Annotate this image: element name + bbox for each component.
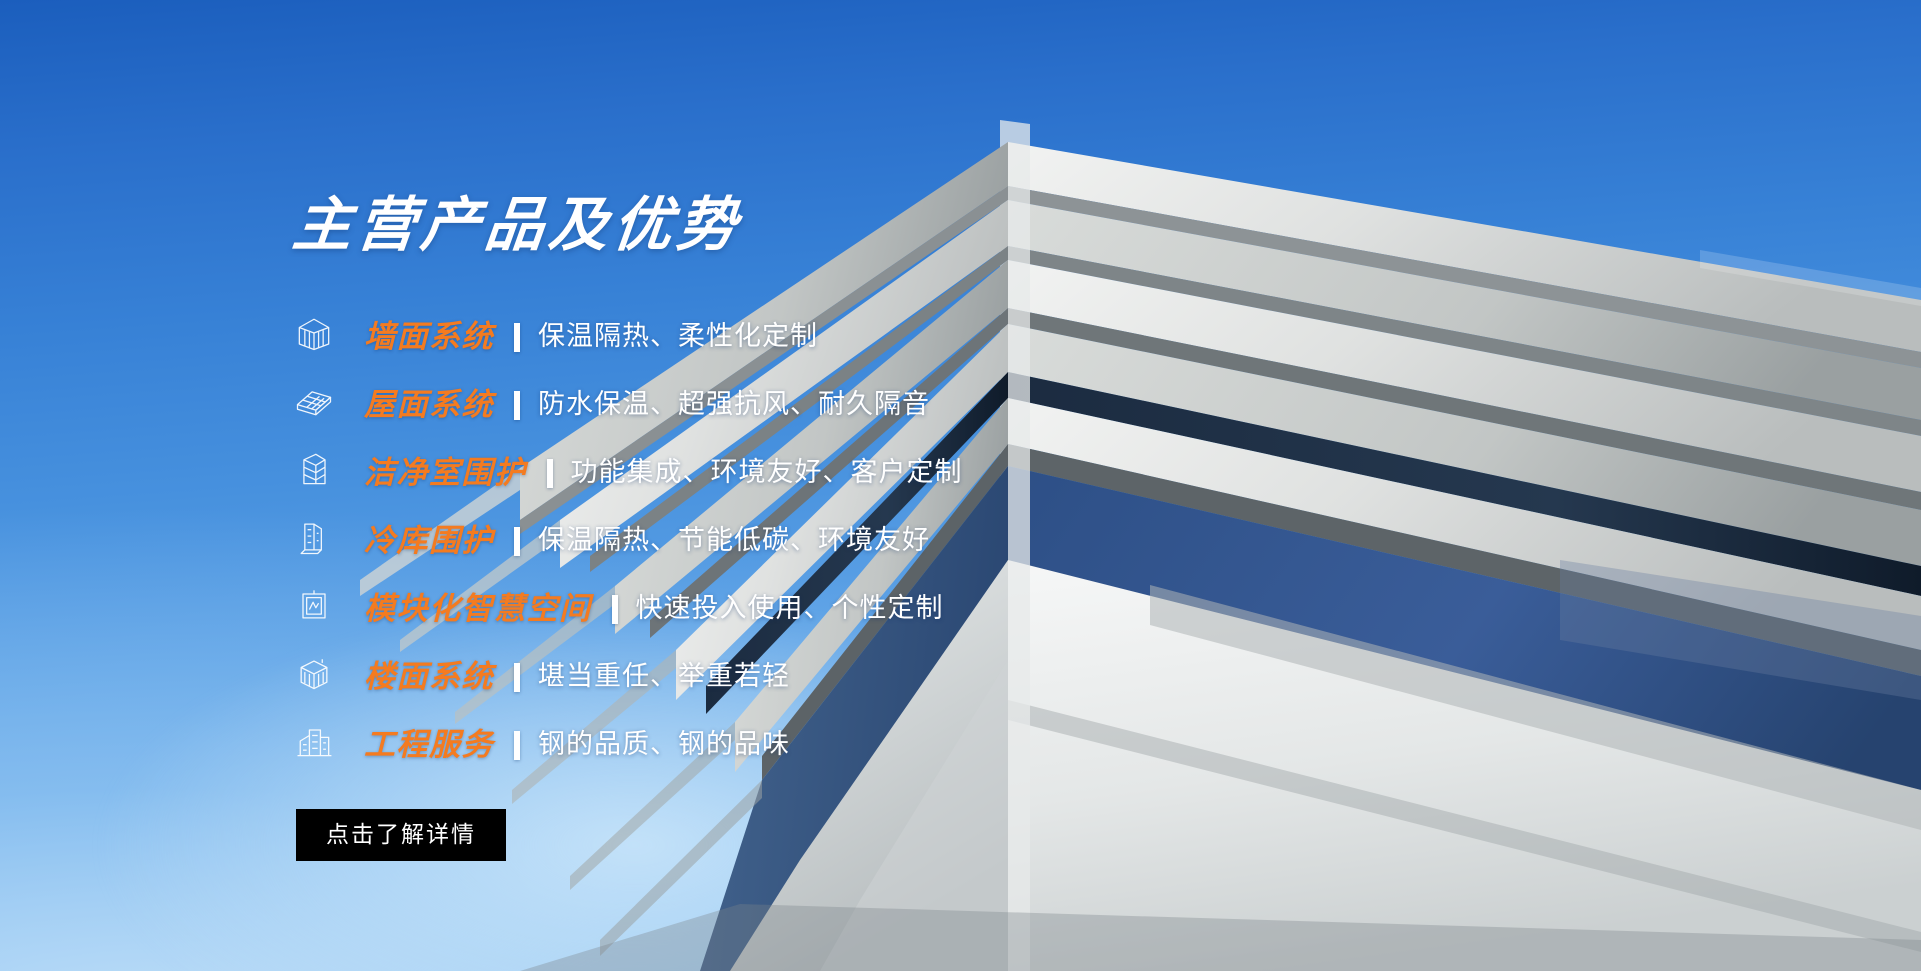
separator-bar [514, 731, 520, 760]
list-item[interactable]: 墙面系统 保温隔热、柔性化定制 [286, 299, 1246, 367]
product-desc: 快速投入使用、个性定制 [636, 586, 944, 625]
list-item[interactable]: 屋面系统 防水保温、超强抗风、耐久隔音 [286, 367, 1246, 435]
list-item[interactable]: 模块化智慧空间 快速投入使用、个性定制 [286, 571, 1246, 639]
product-desc: 功能集成、环境友好、客户定制 [571, 450, 963, 489]
product-name: 洁净室围护 [364, 447, 527, 492]
product-name: 冷库围护 [364, 515, 494, 560]
product-name: 楼面系统 [364, 651, 494, 696]
product-list: 墙面系统 保温隔热、柔性化定制 屋面系统 [286, 299, 1246, 775]
cleanroom-enclosure-icon [286, 446, 342, 492]
product-name: 工程服务 [364, 719, 494, 764]
list-item[interactable]: 楼面系统 堪当重任、举重若轻 [286, 639, 1246, 707]
roof-system-icon [286, 378, 342, 424]
engineering-service-icon [286, 718, 342, 764]
wall-system-icon [286, 310, 342, 356]
banner-content: 主营产品及优势 墙面系统 保温隔热、柔性化定制 [286, 196, 1246, 861]
list-item[interactable]: 工程服务 钢的品质、钢的品味 [286, 707, 1246, 775]
modular-smart-space-icon [286, 582, 342, 628]
product-advantage-banner: 主营产品及优势 墙面系统 保温隔热、柔性化定制 [0, 0, 1921, 971]
separator-bar [514, 527, 520, 556]
cold-storage-enclosure-icon [286, 514, 342, 560]
learn-more-button[interactable]: 点击了解详情 [296, 809, 506, 861]
product-desc: 保温隔热、柔性化定制 [538, 314, 818, 353]
product-desc: 保温隔热、节能低碳、环境友好 [538, 518, 930, 557]
separator-bar [514, 323, 520, 352]
floor-system-icon [286, 650, 342, 696]
product-desc: 堪当重任、举重若轻 [538, 654, 790, 693]
product-desc: 钢的品质、钢的品味 [538, 722, 790, 761]
list-item[interactable]: 冷库围护 保温隔热、节能低碳、环境友好 [286, 503, 1246, 571]
separator-bar [514, 663, 520, 692]
separator-bar [514, 391, 520, 420]
separator-bar [547, 459, 553, 488]
list-item[interactable]: 洁净室围护 功能集成、环境友好、客户定制 [286, 435, 1246, 503]
product-name: 墙面系统 [364, 311, 494, 356]
product-desc: 防水保温、超强抗风、耐久隔音 [538, 382, 930, 421]
product-name: 屋面系统 [364, 379, 494, 424]
product-name: 模块化智慧空间 [364, 583, 592, 628]
separator-bar [612, 595, 618, 624]
page-title: 主营产品及优势 [290, 196, 1252, 255]
